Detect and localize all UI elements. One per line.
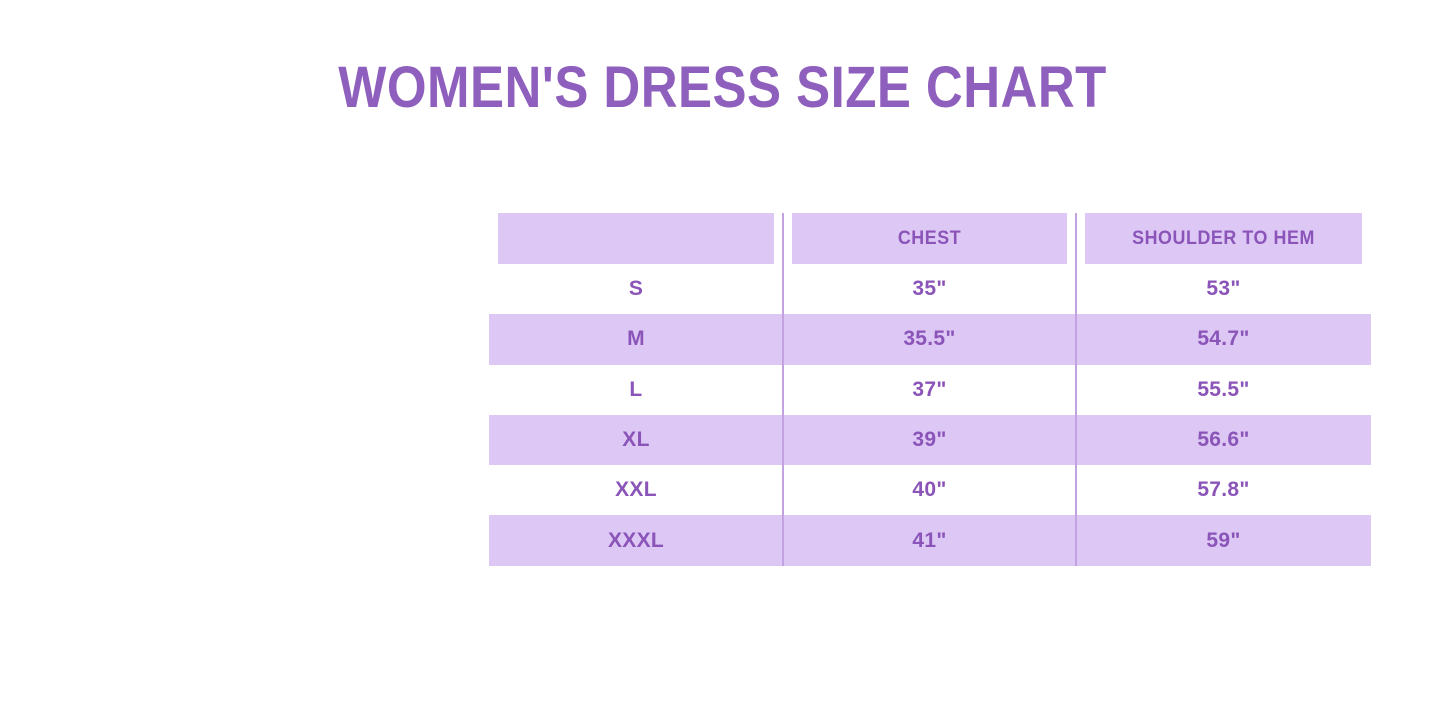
cell-shoulder-to-hem: 53"	[1076, 264, 1371, 314]
column-header-chest: CHEST	[792, 213, 1067, 264]
size-chart-page: WOMEN'S DRESS SIZE CHART CHEST SHOULDER …	[0, 0, 1445, 723]
cell-size: S	[489, 264, 783, 314]
page-title: WOMEN'S DRESS SIZE CHART	[87, 58, 1359, 119]
size-chart-table: CHEST SHOULDER TO HEM S 35" 53" M 35.5" …	[489, 213, 1371, 566]
table-row: XXL 40" 57.8"	[489, 465, 1371, 515]
table-row: XL 39" 56.6"	[489, 415, 1371, 465]
cell-shoulder-to-hem: 54.7"	[1076, 314, 1371, 364]
table-header: CHEST SHOULDER TO HEM	[489, 213, 1371, 264]
table-row: M 35.5" 54.7"	[489, 314, 1371, 364]
table-header-row: CHEST SHOULDER TO HEM	[489, 213, 1371, 264]
cell-shoulder-to-hem: 57.8"	[1076, 465, 1371, 515]
cell-chest: 39"	[783, 415, 1076, 465]
cell-shoulder-to-hem: 55.5"	[1076, 365, 1371, 415]
table-row: S 35" 53"	[489, 264, 1371, 314]
cell-size: M	[489, 314, 783, 364]
table-row: L 37" 55.5"	[489, 365, 1371, 415]
cell-size: XXXL	[489, 515, 783, 565]
size-chart-table-container: CHEST SHOULDER TO HEM S 35" 53" M 35.5" …	[489, 213, 1371, 566]
cell-chest: 40"	[783, 465, 1076, 515]
cell-chest: 41"	[783, 515, 1076, 565]
cell-chest: 35"	[783, 264, 1076, 314]
cell-chest: 35.5"	[783, 314, 1076, 364]
table-row: XXXL 41" 59"	[489, 515, 1371, 565]
column-header-shoulder-to-hem: SHOULDER TO HEM	[1085, 213, 1362, 264]
cell-shoulder-to-hem: 59"	[1076, 515, 1371, 565]
cell-size: XL	[489, 415, 783, 465]
table-body: S 35" 53" M 35.5" 54.7" L 37" 55.5" XL 3…	[489, 264, 1371, 566]
cell-chest: 37"	[783, 365, 1076, 415]
cell-size: XXL	[489, 465, 783, 515]
cell-shoulder-to-hem: 56.6"	[1076, 415, 1371, 465]
column-header-size	[498, 213, 774, 264]
cell-size: L	[489, 365, 783, 415]
